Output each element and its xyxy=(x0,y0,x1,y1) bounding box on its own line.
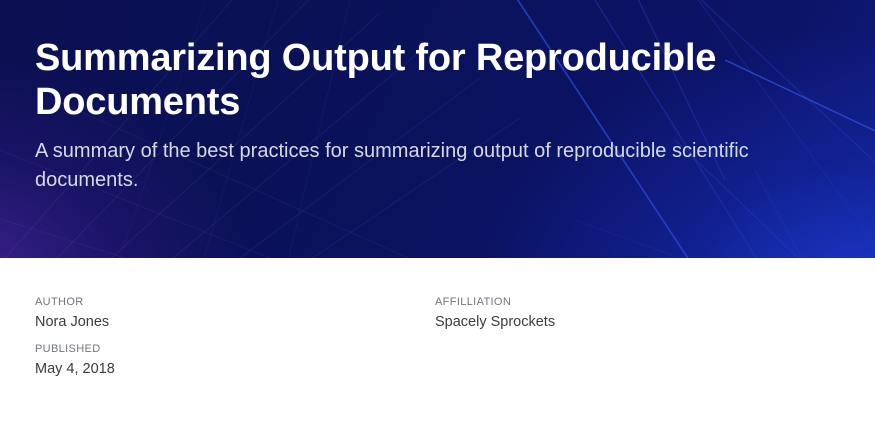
document-title-banner: Summarizing Output for Reproducible Docu… xyxy=(0,0,875,258)
affiliation-label: AFFILLIATION xyxy=(435,296,840,309)
affiliation-value: Spacely Sprockets xyxy=(435,313,840,332)
metadata-field-author: AUTHOR Nora Jones xyxy=(35,296,435,332)
published-label: PUBLISHED xyxy=(35,343,435,356)
document-metadata: AUTHOR Nora Jones PUBLISHED May 4, 2018 … xyxy=(0,258,875,379)
page-subtitle: A summary of the best practices for summ… xyxy=(35,137,797,195)
metadata-column-affiliation: AFFILLIATION Spacely Sprockets xyxy=(435,296,840,379)
banner-content: Summarizing Output for Reproducible Docu… xyxy=(0,0,875,195)
metadata-column-author: AUTHOR Nora Jones PUBLISHED May 4, 2018 xyxy=(35,296,435,379)
page-title: Summarizing Output for Reproducible Docu… xyxy=(35,36,735,125)
author-value: Nora Jones xyxy=(35,313,435,332)
metadata-field-published: PUBLISHED May 4, 2018 xyxy=(35,343,435,379)
metadata-field-affiliation: AFFILLIATION Spacely Sprockets xyxy=(435,296,840,332)
author-label: AUTHOR xyxy=(35,296,435,309)
published-value: May 4, 2018 xyxy=(35,360,435,379)
